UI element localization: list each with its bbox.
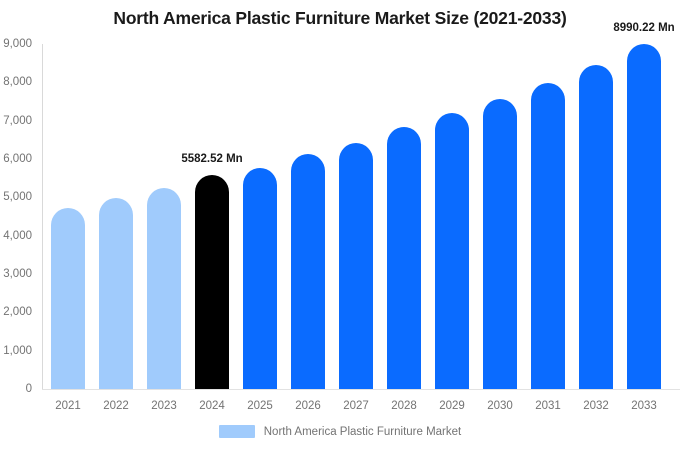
bar-annotation-2033: 8990.22 Mn [594,22,680,34]
bar-2025[interactable] [243,168,277,389]
x-axis-tick-2033: 2033 [614,400,674,412]
y-axis-tick: 9,000 [0,38,32,50]
y-axis-tick: 5,000 [0,191,32,203]
legend-label: North America Plastic Furniture Market [264,426,461,438]
y-axis-tick: 8,000 [0,76,32,88]
y-axis-tick: 3,000 [0,268,32,280]
chart-title: North America Plastic Furniture Market S… [0,8,680,29]
bar-2026[interactable] [291,154,325,389]
bar-2033[interactable] [627,44,661,389]
y-axis-tick: 0 [0,383,32,395]
bar-2030[interactable] [483,99,517,389]
y-axis-tick: 7,000 [0,115,32,127]
bar-2023[interactable] [147,188,181,389]
bar-2032[interactable] [579,65,613,389]
bar-chart: North America Plastic Furniture Market S… [0,0,680,450]
bar-2031[interactable] [531,83,565,389]
y-axis-tick: 6,000 [0,153,32,165]
bar-annotation-2024: 5582.52 Mn [162,153,262,165]
x-axis-line [42,389,680,390]
bar-2024[interactable] [195,175,229,389]
bar-2028[interactable] [387,127,421,389]
bar-2029[interactable] [435,113,469,389]
bar-2022[interactable] [99,198,133,389]
y-axis-tick: 4,000 [0,230,32,242]
plot-area [42,44,680,389]
y-axis-tick: 2,000 [0,306,32,318]
bar-2027[interactable] [339,143,373,389]
y-axis-tick: 1,000 [0,345,32,357]
bar-2021[interactable] [51,208,85,389]
chart-legend: North America Plastic Furniture Market [0,425,680,438]
legend-swatch-north-america-plastic-furniture-market [219,425,255,438]
